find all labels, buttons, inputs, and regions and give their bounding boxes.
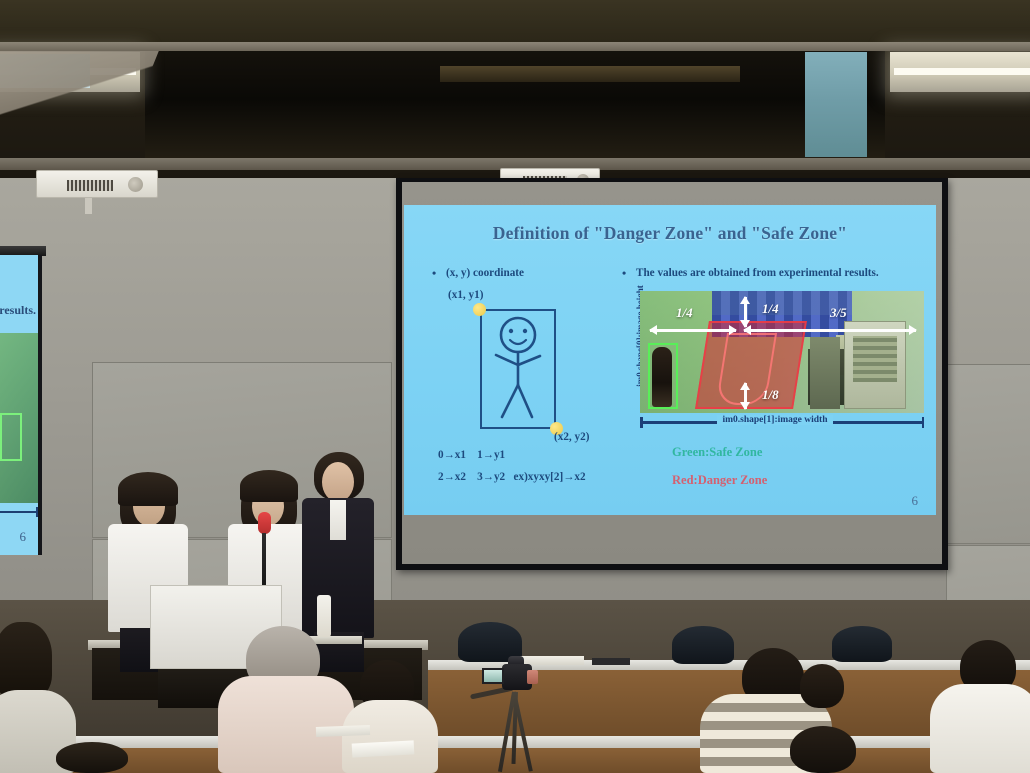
- side-projection-screen: results. 6: [0, 255, 42, 555]
- audience-head: [790, 726, 856, 773]
- bullet-values: The values are obtained from experimenta…: [622, 267, 879, 279]
- image-width-axis-label: im0.shape[1]:image width: [626, 415, 924, 425]
- arrow-eighth-bottom: [744, 383, 747, 409]
- photo-person: [652, 347, 672, 407]
- wall-panel-right-upper: [946, 364, 1030, 544]
- annotation-fraction: 1/4: [676, 305, 693, 321]
- microphone-icon: [258, 512, 271, 534]
- bullet-text: The values are obtained from experimenta…: [622, 267, 879, 279]
- microphone-cable: [262, 533, 266, 585]
- chair: [832, 626, 892, 662]
- light-tube: [894, 68, 1030, 75]
- legend-safe-zone: Green:Safe Zone: [672, 445, 762, 460]
- ceiling: [0, 0, 1030, 180]
- ceiling-light-right: [890, 52, 1030, 92]
- arrow-three-fifths-right: [744, 329, 916, 332]
- index-mapping-line-1: 0→x1 1→y1: [438, 449, 505, 461]
- stick-figure-icon: [480, 309, 556, 429]
- audience-body: [930, 684, 1030, 773]
- bullet-text: (x, y) coordinate: [432, 267, 524, 279]
- audience-body: [342, 700, 438, 773]
- arrow-quarter-top: [744, 297, 747, 327]
- camera-lcd-screen: [482, 668, 504, 684]
- water-bottle: [317, 595, 331, 637]
- camera-lens-icon: [527, 670, 538, 684]
- ceiling-slab: [0, 0, 1030, 44]
- projector-lens-icon: [128, 177, 143, 192]
- bullet-coordinate: (x, y) coordinate: [432, 267, 524, 279]
- projector-icon: [36, 170, 158, 198]
- presenter-head: [322, 462, 354, 502]
- presenter-hair-top: [240, 470, 298, 502]
- experimental-photo-block: im0.shape[0]:image height 1/4 1/4 3/5: [626, 291, 924, 419]
- side-screen-page-number: 6: [20, 529, 27, 545]
- presentation-slide: Definition of "Danger Zone" and "Safe Zo…: [404, 205, 936, 515]
- index-mapping-line-2: 2→x2 3→y2 ex)xyxy[2]→x2: [438, 471, 586, 483]
- arrow-quarter-left: [650, 329, 736, 332]
- audience-body: [218, 676, 354, 773]
- presenter-hair-top: [118, 472, 178, 506]
- danger-zone-overlay: [695, 321, 807, 409]
- presenter-dress-shirt: [330, 500, 346, 540]
- audience-head: [800, 664, 844, 708]
- ceiling-beam-upper: [0, 42, 1030, 51]
- chair: [672, 626, 734, 664]
- slide-page-number: 6: [912, 493, 919, 509]
- corner-dot-top-left: [473, 303, 486, 316]
- image-width-axis-text: im0.shape[1]:image width: [717, 415, 832, 425]
- annotation-fraction: 1/4: [762, 301, 779, 317]
- projector-mount: [85, 198, 92, 214]
- lecture-hall-photo: results. 6 Definition of "Danger Zone" a…: [0, 0, 1030, 773]
- desk-object: [592, 658, 630, 665]
- audience-head: [0, 622, 52, 698]
- ceiling-glow-right: [805, 52, 867, 157]
- side-screen-photo-fragment: [0, 333, 42, 503]
- photo-machine: [810, 337, 840, 409]
- ceiling-fixture: [440, 66, 740, 82]
- audience-head: [56, 742, 128, 773]
- legend-danger-zone: Red:Danger Zone: [672, 473, 767, 488]
- slide-title: Definition of "Danger Zone" and "Safe Zo…: [404, 223, 936, 244]
- projector-vent: [67, 180, 113, 191]
- paper-sheet: [316, 725, 370, 737]
- label-top-left-coordinate: (x1, y1): [448, 289, 483, 301]
- surveillance-photo: 1/4 1/4 3/5 1/8: [640, 291, 924, 413]
- annotation-fraction: 3/5: [830, 305, 847, 321]
- label-bottom-right-coordinate: (x2, y2): [554, 431, 589, 443]
- annotation-fraction: 1/8: [762, 387, 779, 403]
- side-screen-fragment-text: results.: [0, 303, 36, 318]
- side-screen-dimension-bar: [0, 511, 38, 513]
- photo-machine: [844, 321, 906, 409]
